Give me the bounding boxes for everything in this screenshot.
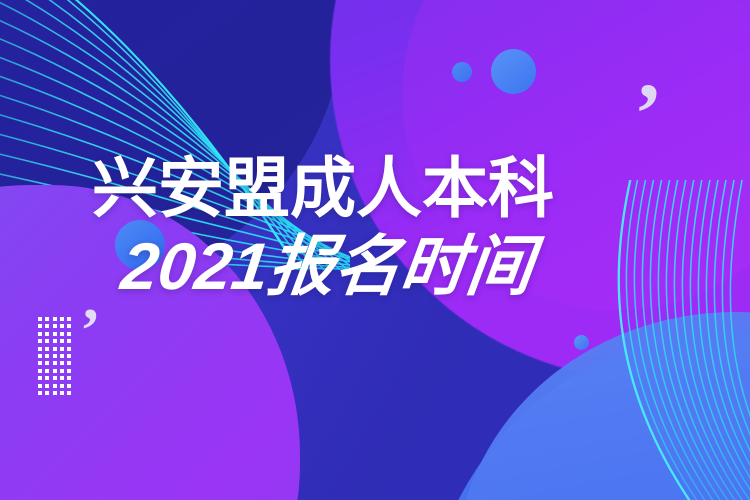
decor-circle-small-top <box>452 62 472 82</box>
decor-circle-large-top <box>491 49 536 94</box>
banner-title: 兴安盟成人本科 2021报名时间 <box>92 150 672 306</box>
title-line-1: 兴安盟成人本科 <box>92 150 672 226</box>
quote-mark-top-right: ’ <box>634 70 663 156</box>
quote-mark-bottom-left: ’ <box>80 300 101 362</box>
promo-banner: ’ ’ 兴安盟成人本科 2021报名时间 <box>0 0 750 500</box>
dot-grid-pattern <box>38 317 71 395</box>
decor-circle-small-bottom <box>574 335 589 350</box>
title-line-2: 2021报名时间 <box>117 226 677 306</box>
